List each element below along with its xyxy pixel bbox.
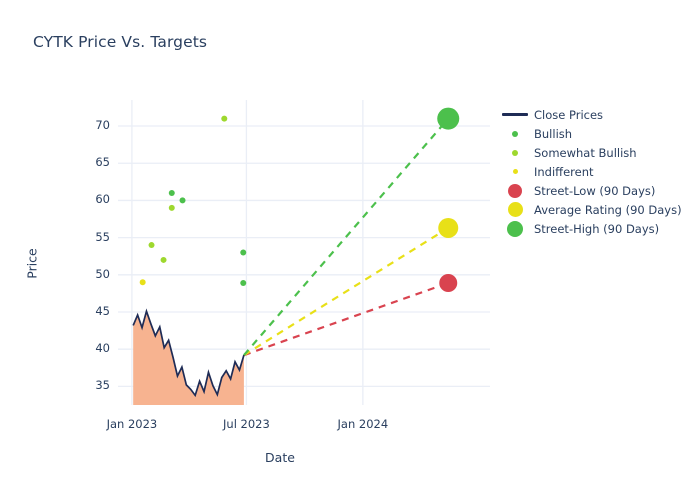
y-axis-tick-40: 40 [70,341,110,355]
legend-item-label: Close Prices [530,108,603,122]
x-axis-title: Date [0,450,560,465]
legend-item-label: Somewhat Bullish [530,146,637,160]
legend-item-label: Street-Low (90 Days) [530,184,655,198]
legend-item-average-rating-90-days[interactable]: Average Rating (90 Days) [500,200,700,219]
legend-dot-swatch-icon [500,202,530,217]
x-axis-tick-jan-2023: Jan 2023 [77,417,187,431]
y-axis-tick-55: 55 [70,230,110,244]
chart-container: CYTK Price Vs. Targets 3540455055606570 … [0,0,700,500]
legend-item-somewhat-bullish[interactable]: Somewhat Bullish [500,143,700,162]
legend-item-bullish[interactable]: Bullish [500,124,700,143]
x-axis-tick-jan-2024: Jan 2024 [308,417,418,431]
legend-item-label: Average Rating (90 Days) [530,203,682,217]
projection-lines [244,119,448,356]
legend-item-street-low-90-days[interactable]: Street-Low (90 Days) [500,181,700,200]
y-axis-tick-70: 70 [70,118,110,132]
y-axis-title: Price [25,224,40,304]
close-price-area-fill [133,311,244,405]
legend-dot-swatch-icon [500,150,530,156]
legend-dot-swatch-icon [500,221,530,237]
y-axis-tick-60: 60 [70,192,110,206]
x-axis-tick-jul-2023: Jul 2023 [191,417,301,431]
legend-item-label: Indifferent [530,165,594,179]
legend-item-indifferent[interactable]: Indifferent [500,162,700,181]
legend-line-swatch-icon [500,113,530,116]
legend-dot-swatch-icon [500,131,530,137]
y-axis-tick-45: 45 [70,304,110,318]
legend-item-label: Bullish [530,127,572,141]
legend-dot-swatch-icon [500,184,530,198]
y-axis-tick-50: 50 [70,267,110,281]
y-axis-tick-35: 35 [70,378,110,392]
legend-item-street-high-90-days[interactable]: Street-High (90 Days) [500,219,700,238]
y-axis-tick-65: 65 [70,155,110,169]
legend-item-close-prices[interactable]: Close Prices [500,105,700,124]
legend-item-label: Street-High (90 Days) [530,222,659,236]
chart-legend: Close PricesBullishSomewhat BullishIndif… [500,105,700,238]
legend-dot-swatch-icon [500,169,530,174]
